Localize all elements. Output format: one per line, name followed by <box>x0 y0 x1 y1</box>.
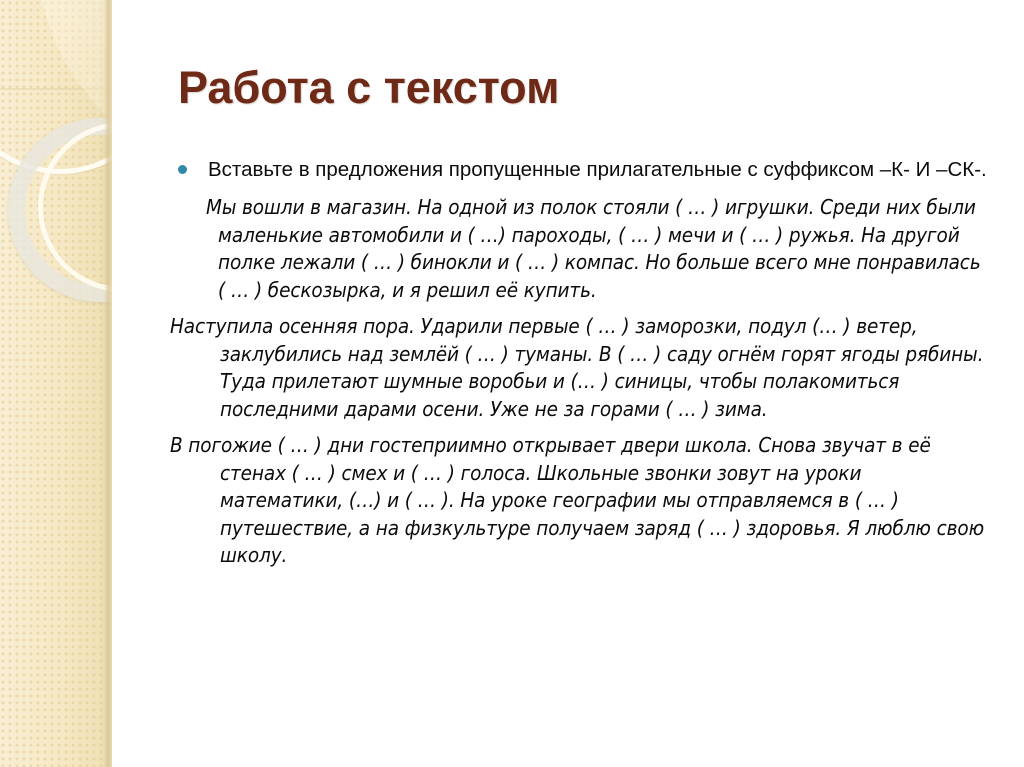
slide-canvas: Работа с текстом Вставьте в предложения … <box>0 0 1024 767</box>
exercise-paragraph: Наступила осенняя пора. Ударили первые (… <box>170 313 990 423</box>
instruction-text: Вставьте в предложения пропущенные прила… <box>208 158 987 181</box>
slide-title: Работа с текстом <box>178 62 559 114</box>
decorative-sidebar <box>0 0 112 767</box>
instruction-bullet-item: Вставьте в предложения пропущенные прила… <box>170 157 990 182</box>
disc-bullet-icon <box>178 165 187 174</box>
slide-content: Работа с текстом Вставьте в предложения … <box>112 0 1024 767</box>
slide-body: Вставьте в предложения пропущенные прила… <box>170 157 990 570</box>
exercise-paragraph: Мы вошли в магазин. На одной из полок ст… <box>170 194 990 304</box>
sidebar-edge-strip <box>104 0 112 767</box>
exercise-paragraph: В погожие ( … ) дни гостеприимно открыва… <box>170 432 990 570</box>
